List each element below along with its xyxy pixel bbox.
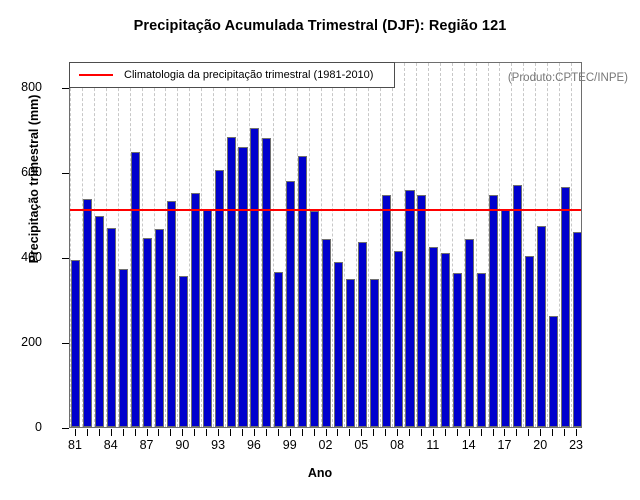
x-axis-tick-mark [361,429,362,436]
x-axis-tick-label: 14 [449,438,489,452]
x-axis-tick-mark [421,429,422,436]
x-axis-tick-label: 17 [484,438,524,452]
x-axis-tick-mark [290,429,291,436]
x-axis-tick-mark [445,429,446,436]
x-axis-tick-label: 84 [91,438,131,452]
x-axis-tick-mark [170,429,171,436]
x-axis-tick-label: 05 [341,438,381,452]
x-axis-tick-mark [218,429,219,436]
y-axis-tick-mark [62,428,69,429]
x-axis-tick-mark [87,429,88,436]
x-axis-tick-mark [111,429,112,436]
x-axis-tick-mark [158,429,159,436]
x-axis-tick-mark [528,429,529,436]
x-axis-tick-mark [135,429,136,436]
y-axis-tick-mark [62,173,69,174]
x-axis-tick-mark [75,429,76,436]
x-axis-tick-label: 23 [556,438,596,452]
x-axis-tick-mark [504,429,505,436]
x-axis-tick-label: 81 [55,438,95,452]
y-axis-tick-mark [62,343,69,344]
climatology-line [70,209,581,211]
x-axis-tick-label: 93 [198,438,238,452]
producer-annotation: (Produto:CPTEC/INPE) [508,72,628,84]
x-axis-tick-mark [254,429,255,436]
x-axis-tick-mark [516,429,517,436]
x-axis-tick-mark [242,429,243,436]
x-axis-tick-mark [481,429,482,436]
x-axis-tick-mark [540,429,541,436]
y-axis-tick-mark [62,88,69,89]
y-axis-tick-label: 0 [35,420,42,434]
x-axis-tick-mark [552,429,553,436]
climatology-layer [70,63,581,427]
x-axis-tick-mark [349,429,350,436]
y-axis-tick-label: 400 [21,250,42,264]
x-axis-tick-mark [457,429,458,436]
x-axis-tick-mark [397,429,398,436]
y-axis-tick-label: 800 [21,80,42,94]
x-axis-title: Ano [0,466,640,480]
x-axis-tick-mark [123,429,124,436]
x-axis-tick-label: 99 [270,438,310,452]
x-axis-tick-mark [266,429,267,436]
x-axis-tick-mark [373,429,374,436]
y-axis-tick-label: 600 [21,165,42,179]
x-axis-tick-mark [493,429,494,436]
plot-area [69,62,582,428]
x-axis-tick-label: 87 [127,438,167,452]
legend-line-swatch [79,74,113,76]
x-axis-tick-mark [385,429,386,436]
x-axis-tick-mark [182,429,183,436]
x-axis-tick-mark [147,429,148,436]
x-axis-tick-mark [564,429,565,436]
x-axis-tick-label: 02 [306,438,346,452]
x-axis-tick-mark [278,429,279,436]
x-axis-tick-mark [409,429,410,436]
page-title: Precipitação Acumulada Trimestral (DJF):… [0,18,640,34]
x-axis-tick-label: 96 [234,438,274,452]
x-axis-tick-mark [433,429,434,436]
legend: Climatologia da precipitação trimestral … [69,62,395,88]
x-axis-tick-mark [576,429,577,436]
x-axis-tick-mark [230,429,231,436]
x-axis-tick-label: 08 [377,438,417,452]
chart-canvas: Precipitação Acumulada Trimestral (DJF):… [0,0,640,500]
x-axis-tick-label: 20 [520,438,560,452]
x-axis-tick-mark [337,429,338,436]
x-axis-tick-mark [326,429,327,436]
x-axis-tick-mark [194,429,195,436]
x-axis-tick-mark [302,429,303,436]
legend-item-label: Climatologia da precipitação trimestral … [124,69,373,81]
x-axis-tick-mark [469,429,470,436]
x-axis-tick-label: 90 [162,438,202,452]
x-axis-tick-mark [314,429,315,436]
y-axis-tick-mark [62,258,69,259]
y-axis-tick-label: 200 [21,335,42,349]
x-axis-tick-label: 11 [413,438,453,452]
x-axis-tick-mark [99,429,100,436]
x-axis-tick-mark [206,429,207,436]
